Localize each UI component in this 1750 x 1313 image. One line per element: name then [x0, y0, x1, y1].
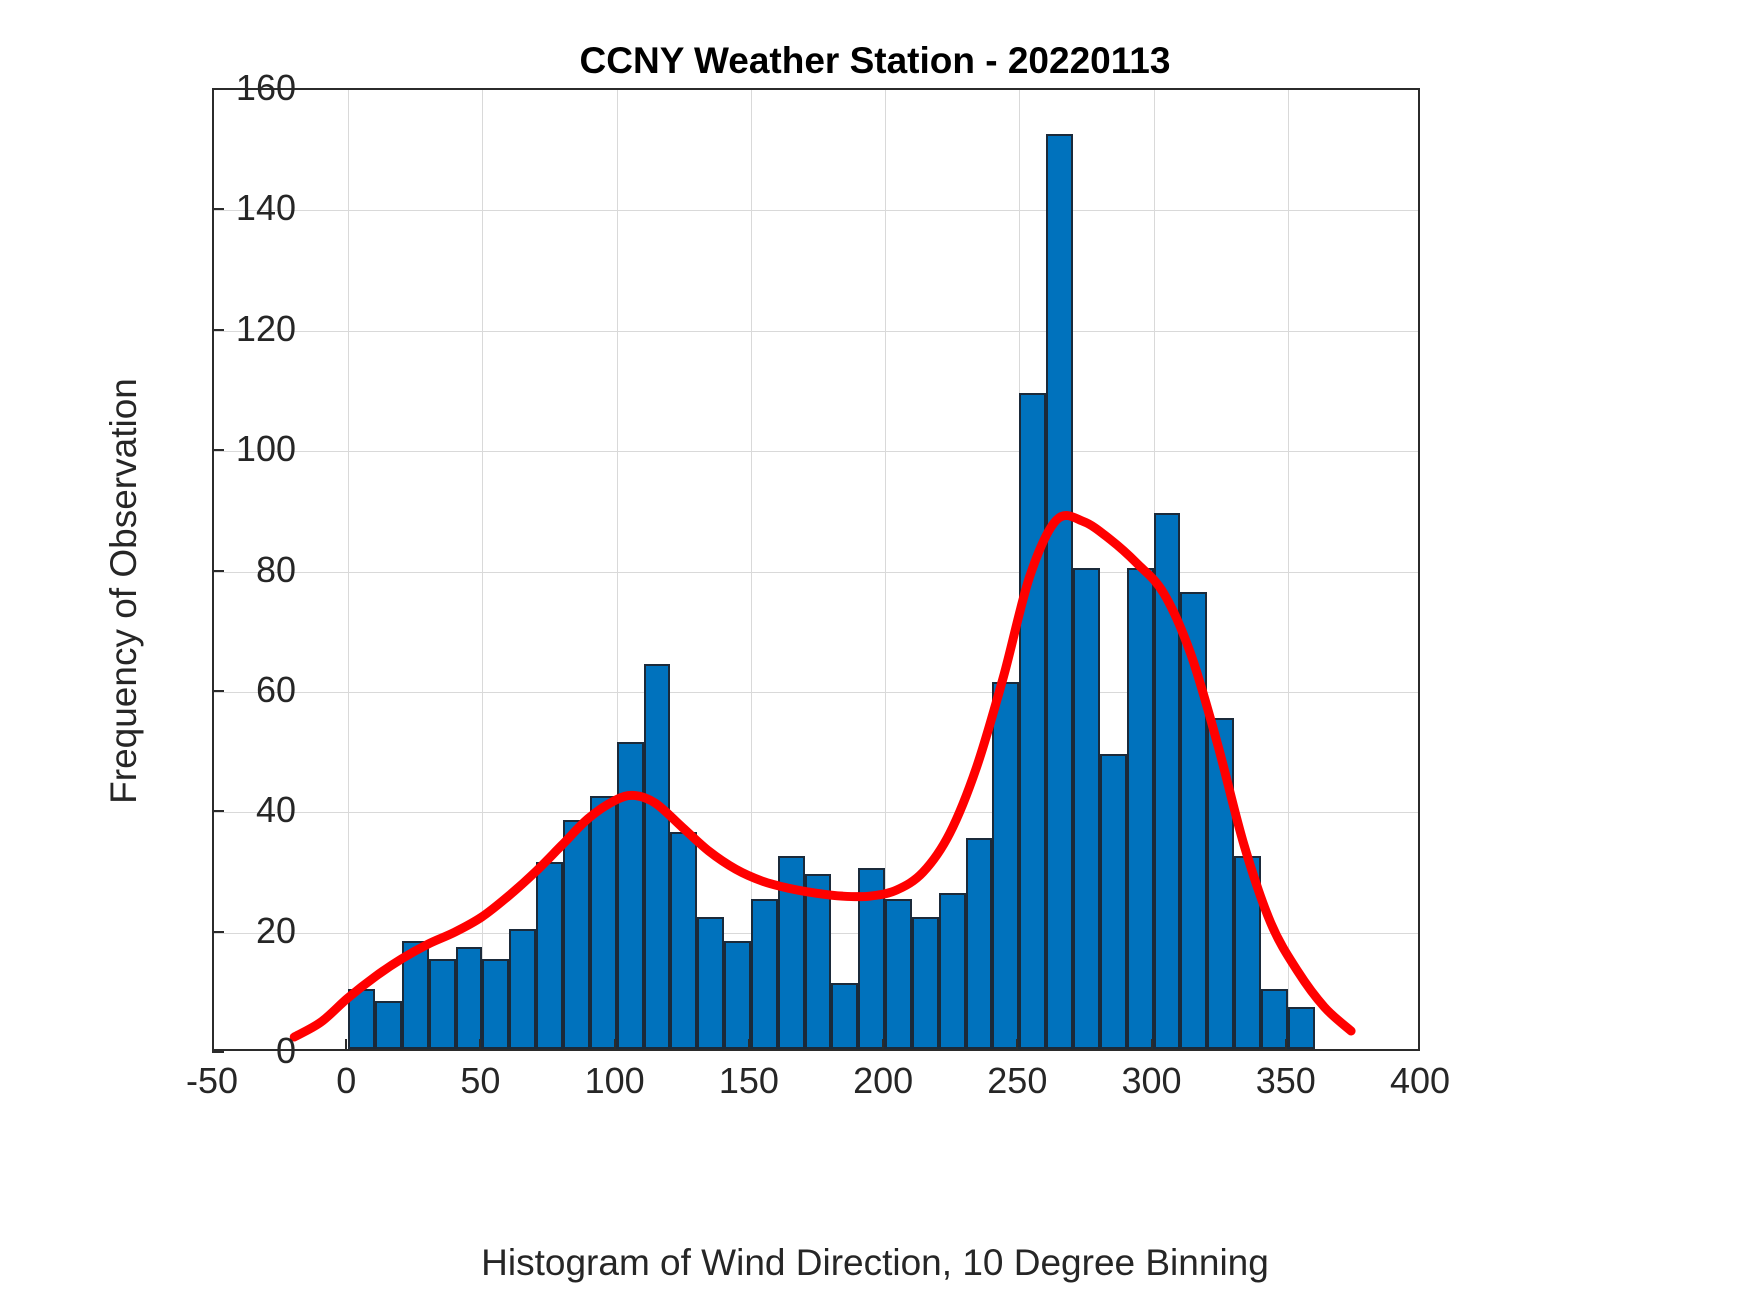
histogram-bar — [402, 941, 429, 1049]
x-axis-label: Histogram of Wind Direction, 10 Degree B… — [0, 1242, 1750, 1284]
histogram-bar — [1154, 513, 1181, 1049]
histogram-bar — [1207, 718, 1234, 1049]
histogram-bar — [966, 838, 993, 1049]
x-tick-mark — [614, 1039, 616, 1051]
histogram-bar — [644, 664, 671, 1049]
histogram-bar — [1234, 856, 1261, 1049]
histogram-bar — [858, 868, 885, 1049]
y-tick-label: 140 — [176, 187, 296, 229]
histogram-bar — [482, 959, 509, 1049]
x-tick-mark — [479, 1039, 481, 1051]
plot-area — [212, 88, 1420, 1051]
histogram-bar — [939, 893, 966, 1049]
histogram-bar — [1288, 1007, 1315, 1049]
histogram-bar — [375, 1001, 402, 1049]
x-tick-mark — [1151, 1039, 1153, 1051]
y-tick-label: 60 — [176, 669, 296, 711]
y-tick-label: 40 — [176, 789, 296, 831]
histogram-bar — [1100, 754, 1127, 1049]
histogram-bar — [590, 796, 617, 1049]
histogram-bars — [214, 90, 1418, 1049]
y-tick-label: 80 — [176, 549, 296, 591]
y-tick-label: 20 — [176, 910, 296, 952]
figure-canvas: CCNY Weather Station - 20220113 02040608… — [0, 0, 1750, 1313]
histogram-bar — [1261, 989, 1288, 1049]
histogram-bar — [912, 917, 939, 1049]
histogram-bar — [1127, 568, 1154, 1050]
histogram-bar — [1073, 568, 1100, 1050]
histogram-bar — [778, 856, 805, 1049]
histogram-bar — [1019, 393, 1046, 1049]
histogram-bar — [536, 862, 563, 1049]
x-tick-mark — [1016, 1039, 1018, 1051]
histogram-bar — [697, 917, 724, 1049]
histogram-bar — [348, 989, 375, 1049]
histogram-bar — [456, 947, 483, 1049]
histogram-bar — [509, 929, 536, 1049]
histogram-bar — [617, 742, 644, 1049]
y-tick-label: 100 — [176, 428, 296, 470]
histogram-bar — [563, 820, 590, 1049]
y-tick-label: 160 — [176, 67, 296, 109]
histogram-bar — [1180, 592, 1207, 1049]
x-tick-mark — [345, 1039, 347, 1051]
histogram-bar — [670, 832, 697, 1049]
histogram-bar — [992, 682, 1019, 1049]
histogram-bar — [805, 874, 832, 1049]
histogram-bar — [724, 941, 751, 1049]
x-tick-label: 400 — [1335, 1060, 1505, 1102]
x-tick-mark — [1285, 1039, 1287, 1051]
x-tick-mark — [748, 1039, 750, 1051]
histogram-bar — [429, 959, 456, 1049]
y-tick-label: 120 — [176, 308, 296, 350]
histogram-bar — [1046, 134, 1073, 1049]
histogram-bar — [831, 983, 858, 1049]
histogram-bar — [885, 899, 912, 1049]
histogram-bar — [751, 899, 778, 1049]
y-axis-label: Frequency of Observation — [103, 221, 145, 961]
x-tick-mark — [882, 1039, 884, 1051]
